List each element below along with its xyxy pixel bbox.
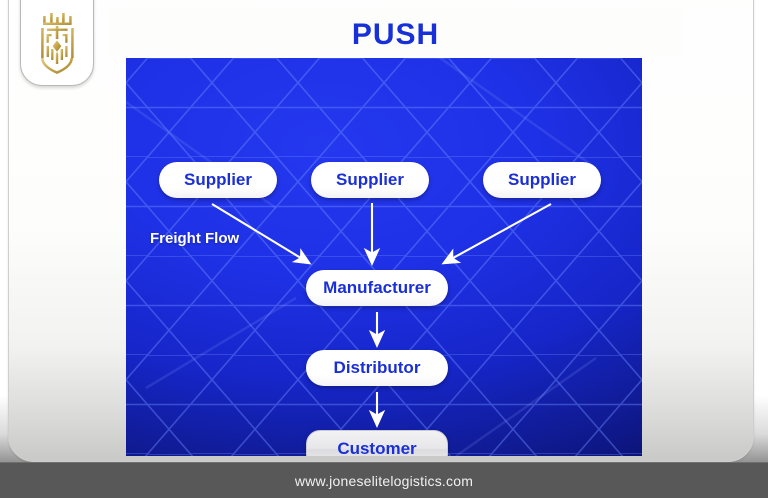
slide-canvas: PUSH (0, 0, 768, 498)
node-manufacturer[interactable]: Manufacturer (306, 270, 448, 306)
node-supplier-1-label: Supplier (184, 170, 252, 190)
arrow-supplier3-to-manufacturer (444, 204, 551, 263)
brand-logo-badge (20, 0, 94, 86)
node-customer-label: Customer (337, 439, 416, 456)
node-supplier-2[interactable]: Supplier (311, 162, 429, 198)
footer-bar: www.joneselitelogistics.com (0, 462, 768, 498)
jones-elite-crest-icon (34, 13, 80, 75)
node-supplier-3-label: Supplier (508, 170, 576, 190)
node-distributor[interactable]: Distributor (306, 350, 448, 386)
node-manufacturer-label: Manufacturer (323, 278, 431, 298)
node-customer[interactable]: Customer (306, 430, 448, 456)
node-supplier-1[interactable]: Supplier (159, 162, 277, 198)
footer-website-url[interactable]: www.joneselitelogistics.com (295, 473, 473, 489)
node-distributor-label: Distributor (334, 358, 421, 378)
node-supplier-2-label: Supplier (336, 170, 404, 190)
freight-flow-label: Freight Flow (150, 230, 239, 247)
flow-arrows (126, 58, 642, 456)
node-supplier-3[interactable]: Supplier (483, 162, 601, 198)
slide-title: PUSH (108, 18, 683, 52)
diagram-panel: Freight Flow Supplier Supplier Supplier … (126, 58, 642, 456)
